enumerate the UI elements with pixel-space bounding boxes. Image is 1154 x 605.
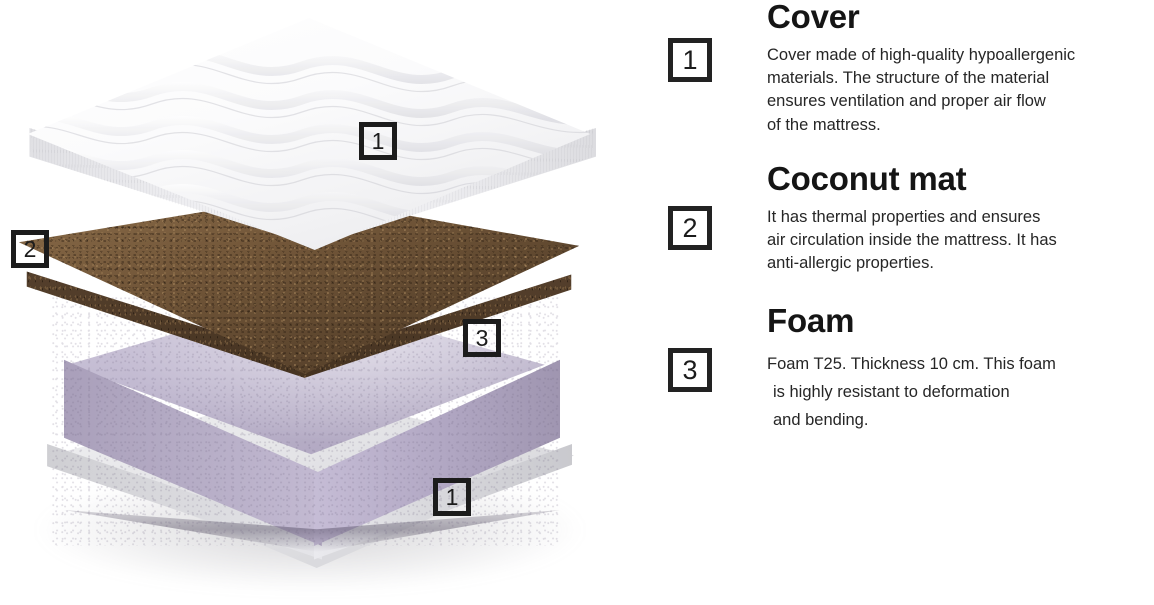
diagram-marker-coconut[interactable]: 2 [11, 230, 49, 268]
legend-desc-line: It has thermal properties and ensures [767, 206, 1154, 229]
diagram-marker-cover-top[interactable]: 1 [359, 122, 397, 160]
legend-text-foam: Foam Foam T25. Thickness 10 cm. This foa… [767, 304, 1154, 435]
cover-layer [22, 18, 596, 288]
legend-title-foam: Foam [767, 304, 1154, 339]
legend-desc-cover: Cover made of high-quality hypoallergeni… [767, 44, 1154, 138]
legend-desc-line: and bending. [767, 406, 1154, 434]
legend-text-cover: Cover Cover made of high-quality hypoall… [767, 0, 1154, 137]
legend-desc-line: anti-allergic properties. [767, 252, 1154, 275]
legend-desc-line: of the mattress. [767, 114, 1154, 137]
legend-badge-1[interactable]: 1 [668, 38, 712, 82]
legend-badge-3[interactable]: 3 [668, 348, 712, 392]
diagram-marker-foam[interactable]: 3 [463, 319, 501, 357]
legend-desc-foam: Foam T25. Thickness 10 cm. This foam is … [767, 350, 1154, 435]
legend-desc-line: materials. The structure of the material [767, 67, 1154, 90]
legend-desc-line: ensures ventilation and proper air flow [767, 90, 1154, 113]
legend-desc-line: Cover made of high-quality hypoallergeni… [767, 44, 1154, 67]
mattress-exploded-diagram: 1 2 3 1 [0, 0, 660, 605]
legend-title-coconut-mat: Coconut mat [767, 162, 1154, 197]
product-layer-infographic: 1 2 3 1 1 Cover Cover made of high-quali… [0, 0, 1154, 605]
legend-desc-coconut-mat: It has thermal properties and ensures ai… [767, 206, 1154, 276]
legend-desc-line: is highly resistant to deformation [767, 378, 1154, 406]
legend-desc-line: Foam T25. Thickness 10 cm. This foam [767, 350, 1154, 378]
legend-badge-2[interactable]: 2 [668, 206, 712, 250]
legend-text-coconut-mat: Coconut mat It has thermal properties an… [767, 162, 1154, 276]
cover-quilted-pattern [22, 18, 596, 250]
legend-panel: 1 Cover Cover made of high-quality hypoa… [660, 0, 1154, 605]
diagram-marker-base[interactable]: 1 [433, 478, 471, 516]
legend-title-cover: Cover [767, 0, 1154, 35]
legend-desc-line: air circulation inside the mattress. It … [767, 229, 1154, 252]
